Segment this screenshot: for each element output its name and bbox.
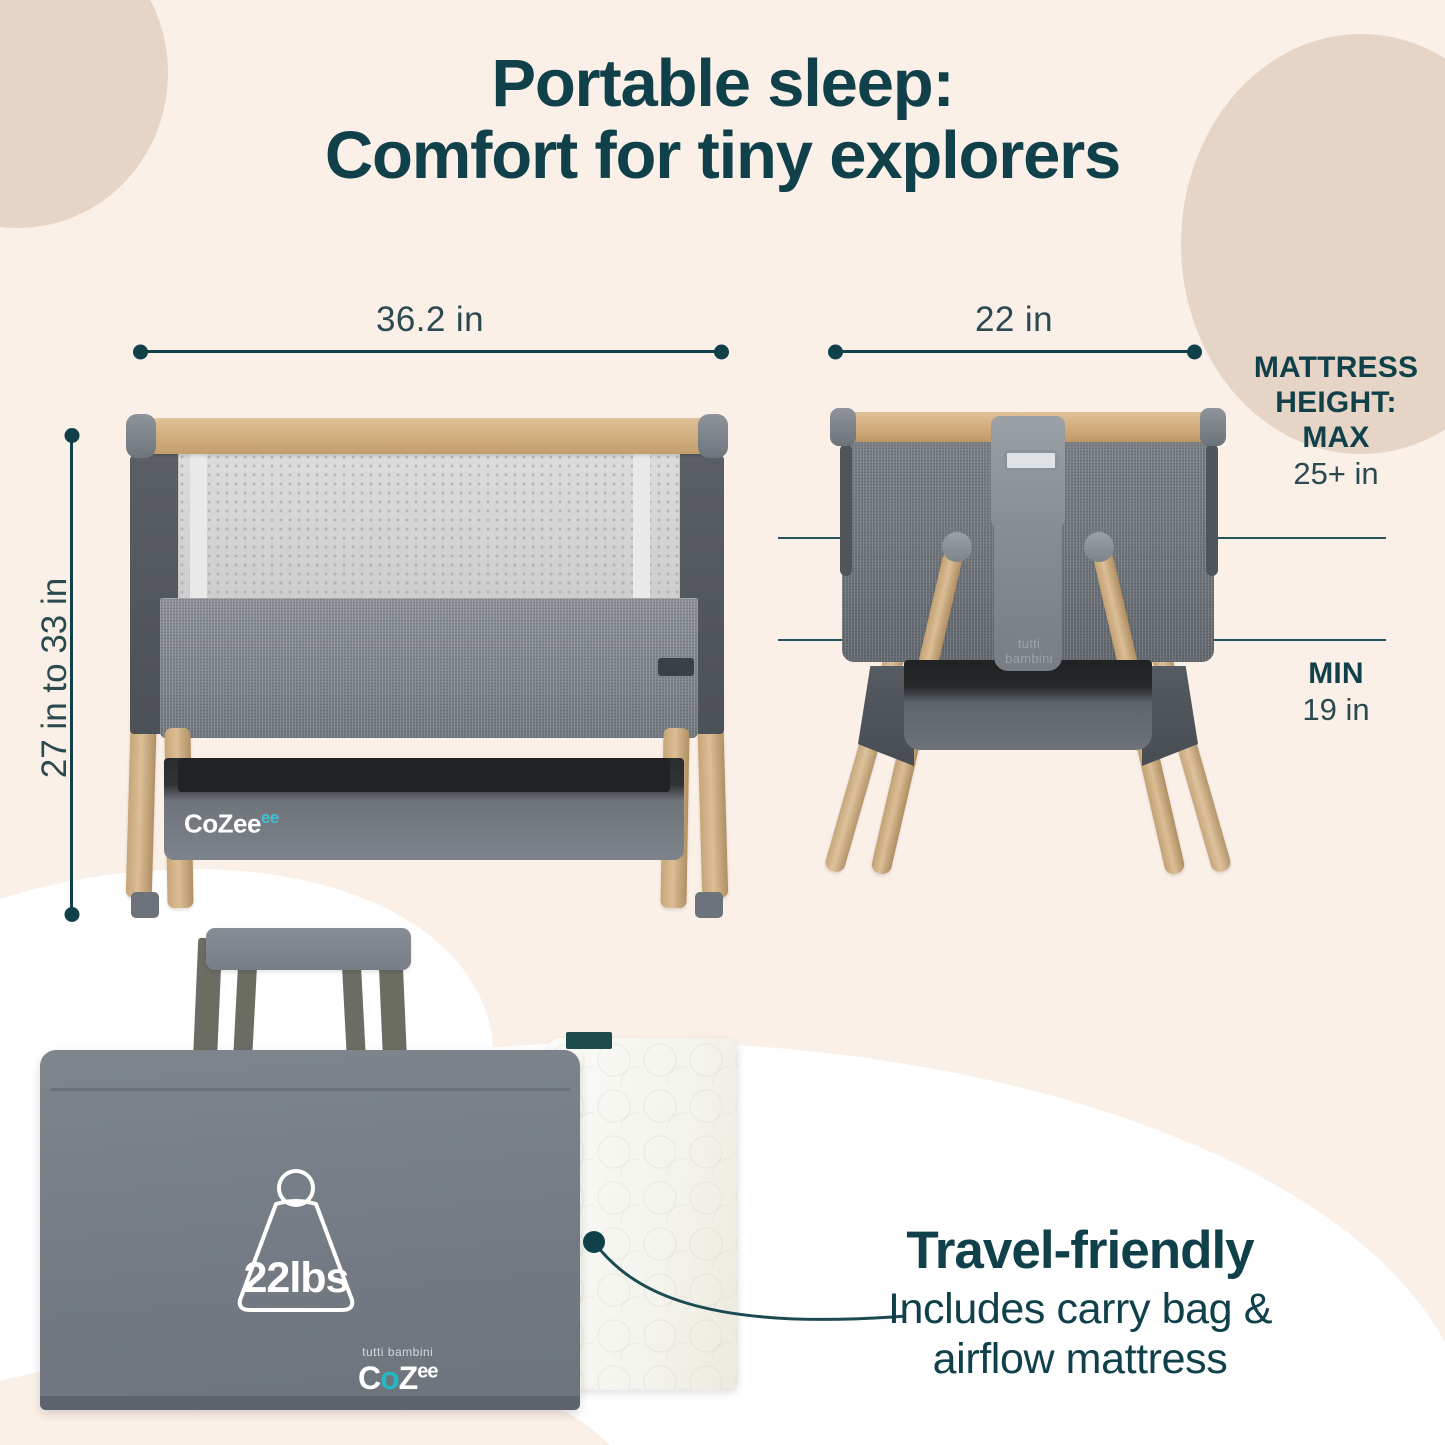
travel-friendly-subtitle-line-2: airflow mattress (800, 1335, 1360, 1385)
bassinet-side-storage-shelf (904, 660, 1152, 750)
carry-bag-logo-text: CoZee (358, 1360, 437, 1396)
mattress-height-title-line-2: HEIGHT: (1236, 385, 1436, 420)
carry-bag-zipper (50, 1088, 570, 1091)
bassinet-front-fabric-band (160, 598, 698, 738)
bassinet-height-adjust-mechanism-top (991, 416, 1065, 528)
mattress-height-min-callout: MIN 19 in (1236, 656, 1436, 728)
bassinet-shelf-logo: CoZeeee (184, 808, 279, 840)
bassinet-side-zip-right (1206, 444, 1218, 576)
infographic-canvas: Portable sleep: Comfort for tiny explore… (0, 0, 1445, 1445)
bassinet-strap-right (633, 454, 650, 604)
mattress-height-min-value: 19 in (1236, 691, 1436, 728)
bassinet-height-adjust-handle-slot (1004, 450, 1058, 471)
bassinet-foot-left (131, 892, 159, 918)
bassinet-leg-hinge-left (942, 532, 972, 562)
mattress-height-min-label: MIN (1236, 656, 1436, 691)
weight-icon: 22lbs (216, 1168, 376, 1320)
mattress-height-max-label: MAX (1236, 420, 1436, 455)
bassinet-shelf-logo-accent: ee (261, 808, 279, 827)
bassinet-side-rail-cap-right (1200, 408, 1226, 446)
travel-friendly-subtitle-line-1: Includes carry bag & (800, 1285, 1360, 1335)
width-dimension-label: 36.2 in (135, 300, 725, 340)
bassinet-rail-cap-left (126, 414, 156, 458)
carry-bag: 22lbs (40, 1050, 580, 1410)
carry-bag-handle-grip (206, 928, 411, 970)
travel-friendly-title: Travel-friendly (800, 1222, 1360, 1280)
bassinet-shelf-logo-text: CoZee (184, 809, 261, 839)
bassinet-strap-left (190, 454, 207, 604)
headline-line-2: Comfort for tiny explorers (0, 120, 1445, 192)
carry-bag-logo-brand: tutti bambini (358, 1346, 437, 1358)
carry-bag-logo: tutti bambini CoZee (358, 1346, 437, 1394)
bassinet-brand-tag (658, 658, 694, 676)
travel-friendly-block: Travel-friendly Includes carry bag & air… (800, 1222, 1360, 1385)
bassinet-wooden-top-rail (140, 418, 718, 454)
bassinet-side-view: tutti bambini (826, 404, 1230, 924)
depth-dimension-label: 22 in (830, 300, 1198, 340)
page-title: Portable sleep: Comfort for tiny explore… (0, 48, 1445, 193)
bassinet-side-zip-left (840, 444, 852, 576)
mattress-height-max-callout: MATTRESS HEIGHT: MAX 25+ in (1236, 350, 1436, 492)
bassinet-foot-right (695, 892, 723, 918)
bassinet-front-view: CoZeeee (112, 408, 742, 928)
mattress-label-tag (566, 1032, 612, 1049)
height-dimension-label: 27 in to 33 in (35, 513, 75, 843)
bassinet-side-brand-mark: tutti bambini (1004, 636, 1054, 666)
headline-line-1: Portable sleep: (491, 46, 953, 121)
mattress-height-max-value: 25+ in (1236, 455, 1436, 492)
bassinet-leg-hinge-right (1084, 532, 1114, 562)
bassinet-side-rail-cap-left (830, 408, 856, 446)
mattress-height-title-line-1: MATTRESS (1236, 350, 1436, 385)
bassinet-rail-cap-right (698, 414, 728, 458)
width-dimension-line (137, 350, 725, 353)
weight-value: 22lbs (216, 1254, 376, 1303)
bassinet-mesh-panel (178, 454, 680, 604)
depth-dimension-line (832, 350, 1198, 353)
